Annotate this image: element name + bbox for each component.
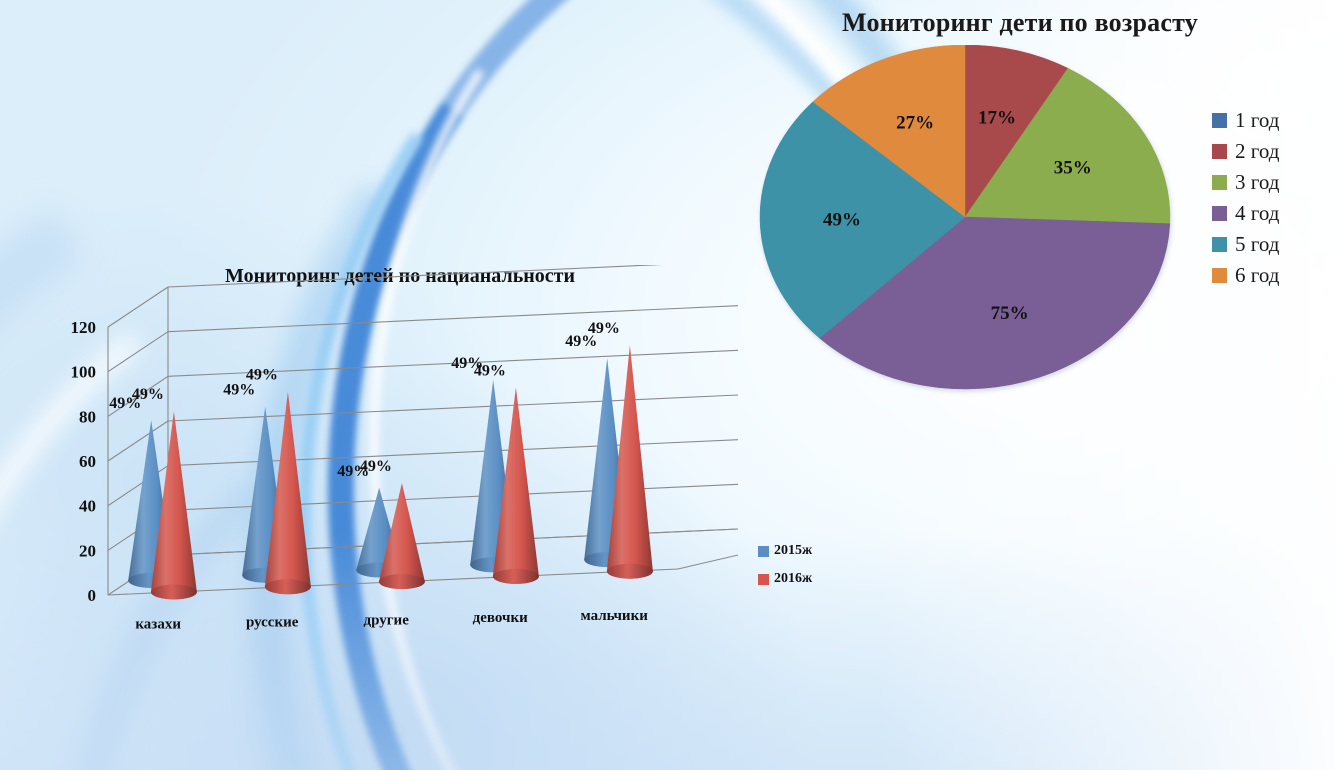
x-axis-category-label: мальчики (581, 608, 649, 624)
x-axis-category-label: русские (246, 615, 299, 631)
bar-chart-y-axis: 020406080100120 (71, 318, 97, 605)
cone-base (151, 585, 197, 600)
bar-legend: 2015ж 2016ж (758, 537, 812, 593)
pie-legend-swatch-icon (1212, 113, 1227, 128)
x-axis-category-label: казахи (135, 617, 181, 633)
pie-legend-item-5[interactable]: 5 год (1212, 229, 1279, 260)
pie-legend-label: 2 год (1235, 139, 1279, 164)
bar-data-label: 49% (360, 458, 392, 475)
slide-canvas: Мониторинг дети по возрасту 17%35%75%49%… (0, 0, 1335, 770)
pie-legend-label: 6 год (1235, 263, 1279, 288)
y-axis-tick-label: 0 (88, 586, 97, 605)
pie-data-label: 17% (978, 107, 1016, 128)
pie-data-label: 49% (823, 209, 861, 230)
pie-legend-swatch-icon (1212, 175, 1227, 190)
pie-legend-item-6[interactable]: 6 год (1212, 260, 1279, 291)
bar-data-label: 49% (132, 386, 164, 403)
gridline (168, 440, 738, 466)
y-axis-tick-label: 120 (71, 318, 97, 337)
bar-data-label: 49% (474, 362, 506, 379)
pie-legend-label: 3 год (1235, 170, 1279, 195)
pie-legend-swatch-icon (1212, 237, 1227, 252)
pie-data-label: 75% (991, 303, 1029, 324)
y-axis-tick-label: 80 (79, 407, 96, 426)
cone-base (493, 569, 539, 584)
pie-legend: 1 год 2 год 3 год 4 год 5 год 6 год (1212, 105, 1279, 291)
y-axis-tick-label: 20 (79, 541, 96, 560)
pie-legend-label: 4 год (1235, 201, 1279, 226)
cone-base (379, 574, 425, 589)
pie-data-label: 35% (1054, 157, 1092, 178)
bar-data-label: 49% (223, 382, 255, 399)
gridline (168, 395, 738, 421)
gridline (168, 265, 738, 287)
pie-legend-label: 5 год (1235, 232, 1279, 257)
pie-legend-swatch-icon (1212, 144, 1227, 159)
bar-chart-x-axis: казахирусскиедругиедевочкимальчики (135, 608, 648, 633)
axis-connector (108, 287, 168, 327)
bar-chart: Мониторинг детей по нацианальности 02040… (40, 265, 850, 695)
bar-legend-label: 2015ж (774, 543, 812, 559)
bar-legend-label: 2016ж (774, 571, 812, 587)
bar-legend-item-2016[interactable]: 2016ж (758, 565, 812, 593)
y-axis-tick-label: 40 (79, 497, 96, 516)
pie-data-label: 27% (896, 113, 934, 134)
pie-legend-item-2[interactable]: 2 год (1212, 136, 1279, 167)
x-axis-category-label: другие (364, 612, 410, 628)
pie-legend-item-1[interactable]: 1 год (1212, 105, 1279, 136)
gridline (168, 306, 738, 332)
y-axis-tick-label: 100 (71, 363, 97, 382)
pie-legend-label: 1 год (1235, 108, 1279, 133)
x-axis-category-label: девочки (473, 610, 528, 626)
pie-legend-swatch-icon (1212, 268, 1227, 283)
cone-base (607, 564, 653, 579)
y-axis-tick-label: 60 (79, 452, 96, 471)
pie-legend-item-3[interactable]: 3 год (1212, 167, 1279, 198)
bar-data-label: 49% (246, 367, 278, 384)
pie-legend-item-4[interactable]: 4 год (1212, 198, 1279, 229)
pie-legend-swatch-icon (1212, 206, 1227, 221)
axis-connector (108, 332, 168, 372)
bar-chart-data-label-group: 49%49%49%49%49%49%49%49%49%49% (109, 320, 620, 480)
bar-legend-swatch-icon (758, 574, 769, 585)
bar-legend-item-2015[interactable]: 2015ж (758, 537, 812, 565)
bar-legend-swatch-icon (758, 546, 769, 557)
bar-chart-plot: 020406080100120 49%49%49%49%49%49%49%49%… (40, 265, 850, 695)
cone-base (265, 579, 311, 594)
axis-connector (108, 421, 168, 461)
bar-data-label: 49% (588, 320, 620, 337)
pie-chart-title: Мониторинг дети по возрасту (760, 8, 1280, 38)
